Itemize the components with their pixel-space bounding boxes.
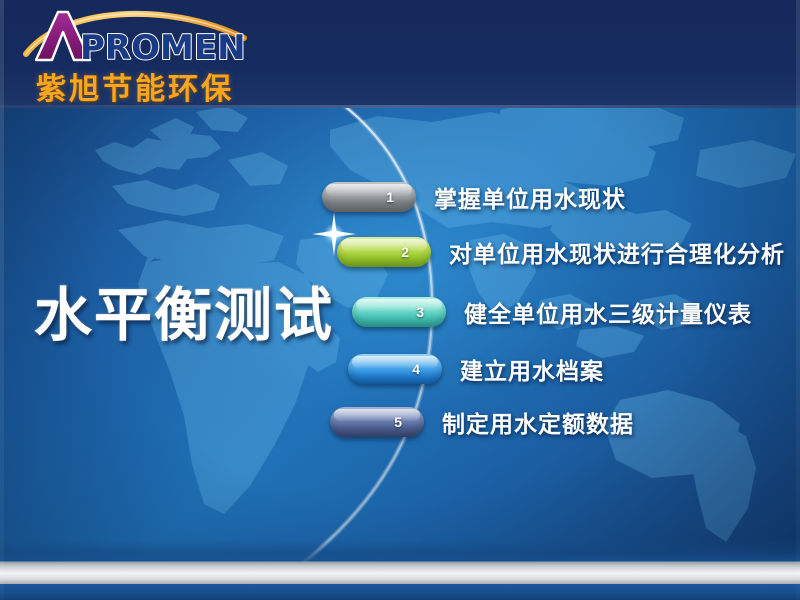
step-pill[interactable]: 5 xyxy=(330,407,424,437)
step-number: 5 xyxy=(394,414,402,430)
step-number: 3 xyxy=(416,304,424,320)
list-item[interactable]: 2 对单位用水现状进行合理化分析 xyxy=(337,235,785,269)
brand-wordmark-icon: PROMEN xyxy=(6,2,274,64)
step-pill[interactable]: 1 xyxy=(322,182,416,212)
brand-chinese-name: 紫旭节能环保 xyxy=(36,64,234,108)
bottom-gradient xyxy=(0,540,800,562)
step-label: 健全单位用水三级计量仪表 xyxy=(464,295,752,329)
step-pill[interactable]: 3 xyxy=(352,297,446,327)
step-label: 制定用水定额数据 xyxy=(442,405,634,439)
left-edge-highlight xyxy=(0,0,4,600)
list-item[interactable]: 1 掌握单位用水现状 xyxy=(322,180,626,214)
list-item[interactable]: 4 建立用水档案 xyxy=(348,352,604,386)
step-number: 2 xyxy=(401,244,409,260)
step-number: 4 xyxy=(412,361,420,377)
svg-text:PROMEN: PROMEN xyxy=(80,28,246,64)
silver-band xyxy=(0,562,800,584)
page-title: 水平衡测试 xyxy=(34,268,334,352)
step-pill[interactable]: 2 xyxy=(337,237,431,267)
logo-bar: PROMEN 紫旭节能环保 xyxy=(0,0,800,108)
company-logo: PROMEN 紫旭节能环保 xyxy=(6,2,276,106)
bottom-band xyxy=(0,584,800,600)
presentation-slide: PROMEN 紫旭节能环保 水平衡测试 1 掌握单位用水现状 2 对 xyxy=(0,0,800,600)
list-item[interactable]: 5 制定用水定额数据 xyxy=(330,405,634,439)
step-number: 1 xyxy=(386,189,394,205)
step-label: 建立用水档案 xyxy=(460,352,604,386)
step-label: 对单位用水现状进行合理化分析 xyxy=(449,235,785,269)
list-item[interactable]: 3 健全单位用水三级计量仪表 xyxy=(352,295,752,329)
step-label: 掌握单位用水现状 xyxy=(434,180,626,214)
right-edge-highlight xyxy=(796,0,800,600)
step-pill[interactable]: 4 xyxy=(348,354,442,384)
